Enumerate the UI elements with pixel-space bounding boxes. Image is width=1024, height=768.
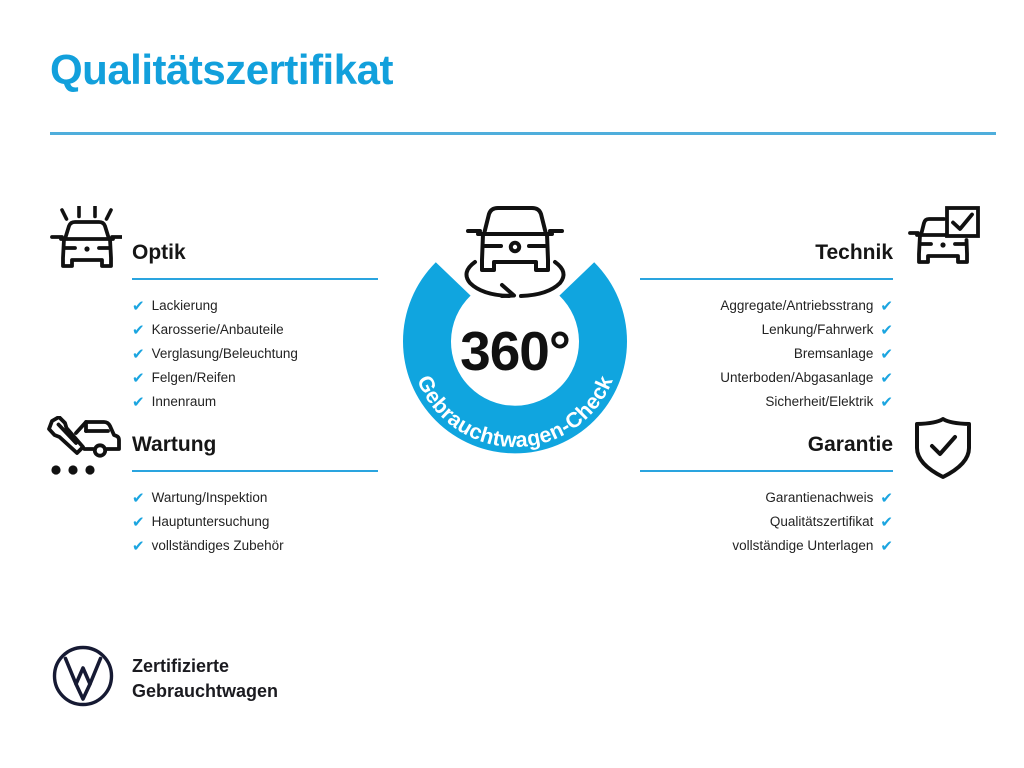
car-front-shine-icon bbox=[48, 206, 122, 277]
section-wartung-header: Wartung bbox=[132, 430, 378, 472]
car-front-checkbox-icon bbox=[908, 206, 980, 273]
list-item-label: Qualitätszertifikat bbox=[770, 510, 874, 534]
check-icon: ✔ bbox=[880, 515, 893, 530]
check-icon: ✔ bbox=[132, 491, 145, 506]
list-item-label: Unterboden/Abgasanlage bbox=[720, 366, 873, 390]
list-item-label: Lenkung/Fahrwerk bbox=[762, 318, 874, 342]
section-garantie-list: Garantienachweis ✔ Qualitätszertifikat ✔… bbox=[640, 486, 893, 558]
list-item: ✔ Wartung/Inspektion bbox=[132, 486, 378, 510]
list-item-label: Hauptuntersuchung bbox=[152, 510, 270, 534]
list-item-label: Innenraum bbox=[152, 390, 217, 414]
check-icon: ✔ bbox=[880, 539, 893, 554]
footer-line-1: Zertifizierte bbox=[132, 654, 278, 679]
page-title: Qualitätszertifikat bbox=[50, 48, 393, 92]
title-divider bbox=[50, 132, 996, 135]
list-item: ✔ Lackierung bbox=[132, 294, 378, 318]
list-item-label: vollständige Unterlagen bbox=[732, 534, 873, 558]
section-optik-title: Optik bbox=[132, 238, 378, 268]
section-technik: Technik Aggregate/Antriebsstrang ✔ Lenku… bbox=[640, 238, 893, 414]
list-item: ✔ Verglasung/Beleuchtung bbox=[132, 342, 378, 366]
list-item-label: Lackierung bbox=[152, 294, 218, 318]
list-item: ✔ Felgen/Reifen bbox=[132, 366, 378, 390]
section-wartung-list: ✔ Wartung/Inspektion ✔ Hauptuntersuchung… bbox=[132, 486, 378, 558]
footer-text: Zertifizierte Gebrauchtwagen bbox=[132, 654, 278, 704]
list-item: Qualitätszertifikat ✔ bbox=[640, 510, 893, 534]
section-wartung: Wartung ✔ Wartung/Inspektion ✔ Hauptunte… bbox=[132, 430, 378, 558]
list-item: ✔ Innenraum bbox=[132, 390, 378, 414]
section-technik-list: Aggregate/Antriebsstrang ✔ Lenkung/Fahrw… bbox=[640, 294, 893, 414]
list-item: ✔ Hauptuntersuchung bbox=[132, 510, 378, 534]
check-icon: ✔ bbox=[880, 347, 893, 362]
badge-center-label: 360° bbox=[374, 324, 656, 379]
car-front-rotate-icon bbox=[454, 196, 576, 305]
section-wartung-title: Wartung bbox=[132, 430, 378, 460]
list-item-label: vollständiges Zubehör bbox=[152, 534, 284, 558]
badge-360-check: Gebrauchtwagen-Check bbox=[374, 196, 656, 486]
section-technik-divider bbox=[640, 278, 893, 281]
list-item: ✔ vollständiges Zubehör bbox=[132, 534, 378, 558]
section-garantie-divider bbox=[640, 470, 893, 473]
check-icon: ✔ bbox=[880, 371, 893, 386]
check-icon: ✔ bbox=[880, 395, 893, 410]
section-garantie-header: Garantie bbox=[640, 430, 893, 472]
check-icon: ✔ bbox=[132, 347, 145, 362]
section-garantie-title: Garantie bbox=[640, 430, 893, 460]
shield-check-icon bbox=[912, 416, 974, 485]
list-item: Unterboden/Abgasanlage ✔ bbox=[640, 366, 893, 390]
list-item: vollständige Unterlagen ✔ bbox=[640, 534, 893, 558]
footer-vw-lockup: Zertifizierte Gebrauchtwagen bbox=[52, 645, 278, 712]
check-icon: ✔ bbox=[132, 323, 145, 338]
check-icon: ✔ bbox=[132, 395, 145, 410]
check-icon: ✔ bbox=[132, 539, 145, 554]
list-item: Bremsanlage ✔ bbox=[640, 342, 893, 366]
list-item-label: Sicherheit/Elektrik bbox=[765, 390, 873, 414]
list-item-label: Felgen/Reifen bbox=[152, 366, 236, 390]
section-optik-header: Optik bbox=[132, 238, 378, 280]
wrench-car-service-icon bbox=[46, 416, 122, 483]
list-item-label: Karosserie/Anbauteile bbox=[152, 318, 284, 342]
certificate-page: Qualitätszertifikat Optik bbox=[0, 0, 1024, 768]
section-optik-list: ✔ Lackierung ✔ Karosserie/Anbauteile ✔ V… bbox=[132, 294, 378, 414]
check-icon: ✔ bbox=[132, 515, 145, 530]
section-wartung-divider bbox=[132, 470, 378, 473]
check-icon: ✔ bbox=[880, 323, 893, 338]
list-item-label: Wartung/Inspektion bbox=[152, 486, 268, 510]
section-optik-divider bbox=[132, 278, 378, 281]
list-item-label: Aggregate/Antriebsstrang bbox=[720, 294, 873, 318]
check-icon: ✔ bbox=[880, 299, 893, 314]
list-item: Sicherheit/Elektrik ✔ bbox=[640, 390, 893, 414]
list-item-label: Verglasung/Beleuchtung bbox=[152, 342, 298, 366]
list-item: Lenkung/Fahrwerk ✔ bbox=[640, 318, 893, 342]
section-garantie: Garantie Garantienachweis ✔ Qualitätszer… bbox=[640, 430, 893, 558]
check-icon: ✔ bbox=[132, 371, 145, 386]
list-item: ✔ Karosserie/Anbauteile bbox=[132, 318, 378, 342]
list-item-label: Bremsanlage bbox=[794, 342, 874, 366]
list-item: Garantienachweis ✔ bbox=[640, 486, 893, 510]
check-icon: ✔ bbox=[132, 299, 145, 314]
vw-roundel-logo bbox=[52, 645, 114, 712]
check-icon: ✔ bbox=[880, 491, 893, 506]
footer-line-2: Gebrauchtwagen bbox=[132, 679, 278, 704]
list-item-label: Garantienachweis bbox=[765, 486, 873, 510]
list-item: Aggregate/Antriebsstrang ✔ bbox=[640, 294, 893, 318]
section-optik: Optik ✔ Lackierung ✔ Karosserie/Anbautei… bbox=[132, 238, 378, 414]
section-technik-title: Technik bbox=[640, 238, 893, 268]
section-technik-header: Technik bbox=[640, 238, 893, 280]
